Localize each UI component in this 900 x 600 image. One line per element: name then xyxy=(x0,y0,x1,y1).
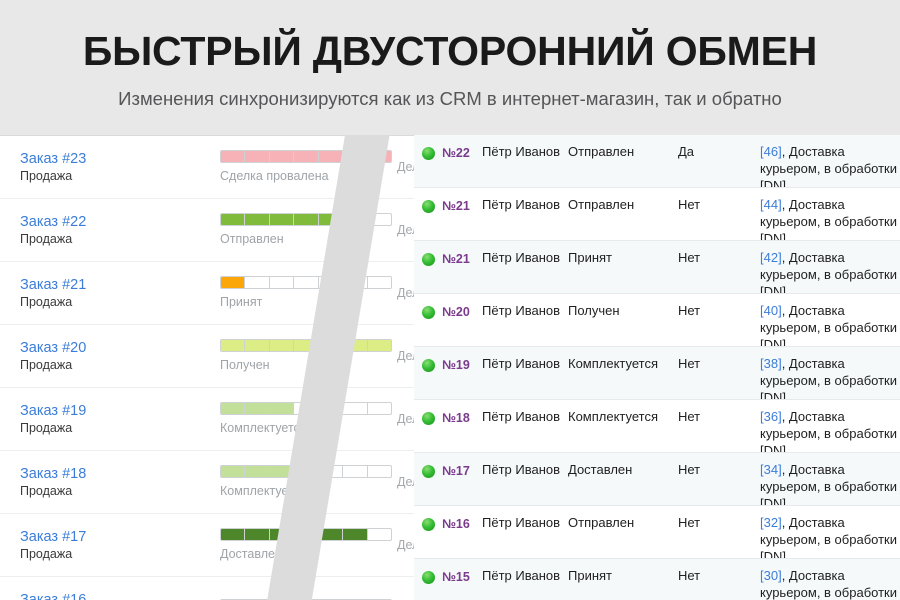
order-paid-cell: Нет xyxy=(678,408,760,425)
delivery-code: [38] xyxy=(760,356,782,371)
order-number-cell: №21 xyxy=(414,196,482,216)
order-status-value: Отправлен xyxy=(568,143,678,160)
deal-identity: Заказ #16Продажа xyxy=(20,591,220,600)
deal-row[interactable]: Заказ #20ПродажаПолученДела отсутствуют xyxy=(0,325,470,388)
order-status-cell: Принят xyxy=(568,249,678,266)
progress-segment xyxy=(245,340,269,351)
order-row[interactable]: №18Пётр ИвановКомплектуетсяНет[36], Дост… xyxy=(414,400,900,453)
order-paid-value: Нет xyxy=(678,567,760,584)
order-paid-value: Нет xyxy=(678,408,760,425)
order-status-cell: Отправлен xyxy=(568,514,678,531)
delivery-code: [46] xyxy=(760,144,782,159)
progress-segment xyxy=(368,529,391,540)
order-status-cell: Отправлен xyxy=(568,196,678,213)
order-number-link[interactable]: №21 xyxy=(442,198,470,214)
deal-row[interactable]: Заказ #17ПродажаДоставленДела отсутствую… xyxy=(0,514,470,577)
progress-segment xyxy=(368,277,391,288)
progress-segment xyxy=(245,466,269,477)
screenshot-root: БЫСТРЫЙ ДВУСТОРОННИЙ ОБМЕН Изменения син… xyxy=(0,0,900,600)
progress-segment xyxy=(270,277,294,288)
progress-segment xyxy=(221,340,245,351)
customer-name: Пётр Иванов xyxy=(482,461,568,478)
order-customer-cell: Пётр Иванов xyxy=(482,355,568,372)
status-dot-icon xyxy=(422,306,435,319)
order-number-link[interactable]: №19 xyxy=(442,357,470,373)
order-status-cell: Отправлен xyxy=(568,143,678,160)
order-number-link[interactable]: №15 xyxy=(442,569,470,585)
page-header: БЫСТРЫЙ ДВУСТОРОННИЙ ОБМЕН Изменения син… xyxy=(0,0,900,135)
order-delivery-value: [30], Доставка курьером, в обработки [DN… xyxy=(760,567,900,600)
progress-segment xyxy=(221,529,245,540)
deal-title-link[interactable]: Заказ #16 xyxy=(20,591,220,600)
deal-title-link[interactable]: Заказ #17 xyxy=(20,528,220,546)
customer-name: Пётр Иванов xyxy=(482,249,568,266)
progress-segment xyxy=(221,151,245,162)
status-dot-icon xyxy=(422,465,435,478)
order-paid-value: Нет xyxy=(678,196,760,213)
order-delivery-cell: [30], Доставка курьером, в обработки [DN… xyxy=(760,567,900,600)
order-number-link[interactable]: №20 xyxy=(442,304,470,320)
customer-name: Пётр Иванов xyxy=(482,302,568,319)
deal-title-link[interactable]: Заказ #23 xyxy=(20,150,220,168)
deal-type-label: Продажа xyxy=(20,420,220,436)
progress-segment xyxy=(245,529,269,540)
order-number-cell: №17 xyxy=(414,461,482,481)
order-row[interactable]: №19Пётр ИвановКомплектуетсяНет[38], Дост… xyxy=(414,347,900,400)
progress-stage-label: Принят xyxy=(220,295,395,310)
progress-segment xyxy=(221,466,245,477)
progress-segment xyxy=(245,214,269,225)
order-customer-cell: Пётр Иванов xyxy=(482,302,568,319)
progress-segment xyxy=(270,151,294,162)
order-status-value: Доставлен xyxy=(568,461,678,478)
order-row[interactable]: №17Пётр ИвановДоставленНет[34], Доставка… xyxy=(414,453,900,506)
order-status-value: Принят xyxy=(568,249,678,266)
status-dot-icon xyxy=(422,359,435,372)
order-status-value: Комплектуется xyxy=(568,408,678,425)
order-customer-cell: Пётр Иванов xyxy=(482,514,568,531)
deal-progress: Принят xyxy=(220,276,395,310)
deal-title-link[interactable]: Заказ #18 xyxy=(20,465,220,483)
delivery-code: [30] xyxy=(760,568,782,583)
deal-identity: Заказ #18Продажа xyxy=(20,465,220,499)
order-paid-value: Да xyxy=(678,143,760,160)
order-paid-value: Нет xyxy=(678,514,760,531)
progress-segment xyxy=(270,340,294,351)
order-number-link[interactable]: №22 xyxy=(442,145,470,161)
deal-title-link[interactable]: Заказ #21 xyxy=(20,276,220,294)
order-status-cell: Комплектуется xyxy=(568,355,678,372)
order-paid-cell: Нет xyxy=(678,461,760,478)
order-paid-cell: Нет xyxy=(678,249,760,266)
progress-segment xyxy=(221,277,245,288)
progress-segment xyxy=(270,214,294,225)
deal-type-label: Продажа xyxy=(20,294,220,310)
order-row[interactable]: №21Пётр ИвановПринятНет[42], Доставка ку… xyxy=(414,241,900,294)
progress-segment xyxy=(294,214,318,225)
order-status-cell: Принят xyxy=(568,567,678,584)
order-customer-cell: Пётр Иванов xyxy=(482,196,568,213)
order-status-value: Отправлен xyxy=(568,196,678,213)
deal-row[interactable]: Заказ #18ПродажаКомплектуетсяДела отсутс… xyxy=(0,451,470,514)
order-paid-cell: Нет xyxy=(678,302,760,319)
deal-row[interactable]: Заказ #16Продажа xyxy=(0,577,470,600)
deal-title-link[interactable]: Заказ #22 xyxy=(20,213,220,231)
order-paid-value: Нет xyxy=(678,355,760,372)
progress-segment xyxy=(294,277,318,288)
progress-segment xyxy=(221,214,245,225)
progress-segment xyxy=(245,151,269,162)
order-status-value: Получен xyxy=(568,302,678,319)
deal-title-link[interactable]: Заказ #19 xyxy=(20,402,220,420)
progress-segment xyxy=(343,529,367,540)
panels-container: Заказ #23ПродажаСделка проваленаДела отс… xyxy=(0,135,900,600)
order-customer-cell: Пётр Иванов xyxy=(482,567,568,584)
progress-bar xyxy=(220,276,392,289)
customer-name: Пётр Иванов xyxy=(482,567,568,584)
order-status-cell: Доставлен xyxy=(568,461,678,478)
order-number-cell: №19 xyxy=(414,355,482,375)
progress-segment xyxy=(368,466,391,477)
progress-segment xyxy=(343,466,367,477)
progress-segment xyxy=(221,403,245,414)
status-dot-icon xyxy=(422,571,435,584)
order-row[interactable]: №22Пётр ИвановОтправленДа[46], Доставка … xyxy=(414,135,900,188)
order-number-cell: №18 xyxy=(414,408,482,428)
progress-segment xyxy=(245,403,269,414)
order-customer-cell: Пётр Иванов xyxy=(482,461,568,478)
order-number-cell: №20 xyxy=(414,302,482,322)
deal-identity: Заказ #21Продажа xyxy=(20,276,220,310)
order-paid-cell: Да xyxy=(678,143,760,160)
order-paid-value: Нет xyxy=(678,461,760,478)
status-dot-icon xyxy=(422,253,435,266)
order-paid-cell: Нет xyxy=(678,196,760,213)
status-dot-icon xyxy=(422,518,435,531)
progress-segment xyxy=(319,151,343,162)
order-paid-value: Нет xyxy=(678,249,760,266)
deal-identity: Заказ #22Продажа xyxy=(20,213,220,247)
order-number-cell: №22 xyxy=(414,143,482,163)
deal-row[interactable]: Заказ #19ПродажаКомплектуетсяДела отсутс… xyxy=(0,388,470,451)
order-paid-cell: Нет xyxy=(678,514,760,531)
order-customer-cell: Пётр Иванов xyxy=(482,408,568,425)
status-dot-icon xyxy=(422,412,435,425)
order-status-cell: Комплектуется xyxy=(568,408,678,425)
deal-identity: Заказ #17Продажа xyxy=(20,528,220,562)
deal-type-label: Продажа xyxy=(20,357,220,373)
deal-row[interactable]: Заказ #22ПродажаОтправленДела отсутствую… xyxy=(0,199,470,262)
customer-name: Пётр Иванов xyxy=(482,143,568,160)
customer-name: Пётр Иванов xyxy=(482,408,568,425)
shop-orders-panel[interactable]: №22Пётр ИвановОтправленДа[46], Доставка … xyxy=(414,135,900,600)
order-status-value: Комплектуется xyxy=(568,355,678,372)
order-number-cell: №21 xyxy=(414,249,482,269)
order-paid-cell: Нет xyxy=(678,355,760,372)
deal-identity: Заказ #23Продажа xyxy=(20,150,220,184)
deal-title-link[interactable]: Заказ #20 xyxy=(20,339,220,357)
delivery-code: [36] xyxy=(760,409,782,424)
customer-name: Пётр Иванов xyxy=(482,355,568,372)
progress-segment xyxy=(343,403,367,414)
order-number-link[interactable]: №16 xyxy=(442,516,470,532)
deal-type-label: Продажа xyxy=(20,483,220,499)
customer-name: Пётр Иванов xyxy=(482,196,568,213)
order-customer-cell: Пётр Иванов xyxy=(482,249,568,266)
order-row[interactable]: №21Пётр ИвановОтправленНет[44], Доставка… xyxy=(414,188,900,241)
delivery-code: [32] xyxy=(760,515,782,530)
order-paid-value: Нет xyxy=(678,302,760,319)
status-dot-icon xyxy=(422,200,435,213)
page-title: БЫСТРЫЙ ДВУСТОРОННИЙ ОБМЕН xyxy=(0,0,900,75)
delivery-code: [42] xyxy=(760,250,782,265)
deal-row[interactable]: Заказ #23ПродажаСделка проваленаДела отс… xyxy=(0,136,470,199)
order-row[interactable]: №20Пётр ИвановПолученНет[40], Доставка к… xyxy=(414,294,900,347)
status-dot-icon xyxy=(422,147,435,160)
progress-bar xyxy=(220,339,392,352)
progress-segment xyxy=(294,151,318,162)
order-number-link[interactable]: №18 xyxy=(442,410,470,426)
progress-segment xyxy=(270,403,294,414)
deal-identity: Заказ #20Продажа xyxy=(20,339,220,373)
order-status-value: Принят xyxy=(568,567,678,584)
deal-identity: Заказ #19Продажа xyxy=(20,402,220,436)
deal-type-label: Продажа xyxy=(20,168,220,184)
delivery-code: [44] xyxy=(760,197,782,212)
order-status-value: Отправлен xyxy=(568,514,678,531)
deal-type-label: Продажа xyxy=(20,231,220,247)
page-subtitle: Изменения синхронизируются как из CRM в … xyxy=(0,75,900,111)
deal-row[interactable]: Заказ #21ПродажаПринятДела отсутствуют xyxy=(0,262,470,325)
progress-segment xyxy=(368,403,391,414)
deal-type-label: Продажа xyxy=(20,546,220,562)
order-status-cell: Получен xyxy=(568,302,678,319)
progress-segment xyxy=(245,277,269,288)
order-row[interactable]: №16Пётр ИвановОтправленНет[32], Доставка… xyxy=(414,506,900,559)
delivery-code: [40] xyxy=(760,303,782,318)
order-row[interactable]: №15Пётр ИвановПринятНет[30], Доставка ку… xyxy=(414,559,900,600)
order-paid-cell: Нет xyxy=(678,567,760,584)
order-number-link[interactable]: №21 xyxy=(442,251,470,267)
order-number-link[interactable]: №17 xyxy=(442,463,470,479)
order-number-cell: №15 xyxy=(414,567,482,587)
progress-segment xyxy=(368,340,391,351)
crm-deals-panel[interactable]: Заказ #23ПродажаСделка проваленаДела отс… xyxy=(0,135,470,600)
order-number-cell: №16 xyxy=(414,514,482,534)
delivery-code: [34] xyxy=(760,462,782,477)
customer-name: Пётр Иванов xyxy=(482,514,568,531)
order-customer-cell: Пётр Иванов xyxy=(482,143,568,160)
